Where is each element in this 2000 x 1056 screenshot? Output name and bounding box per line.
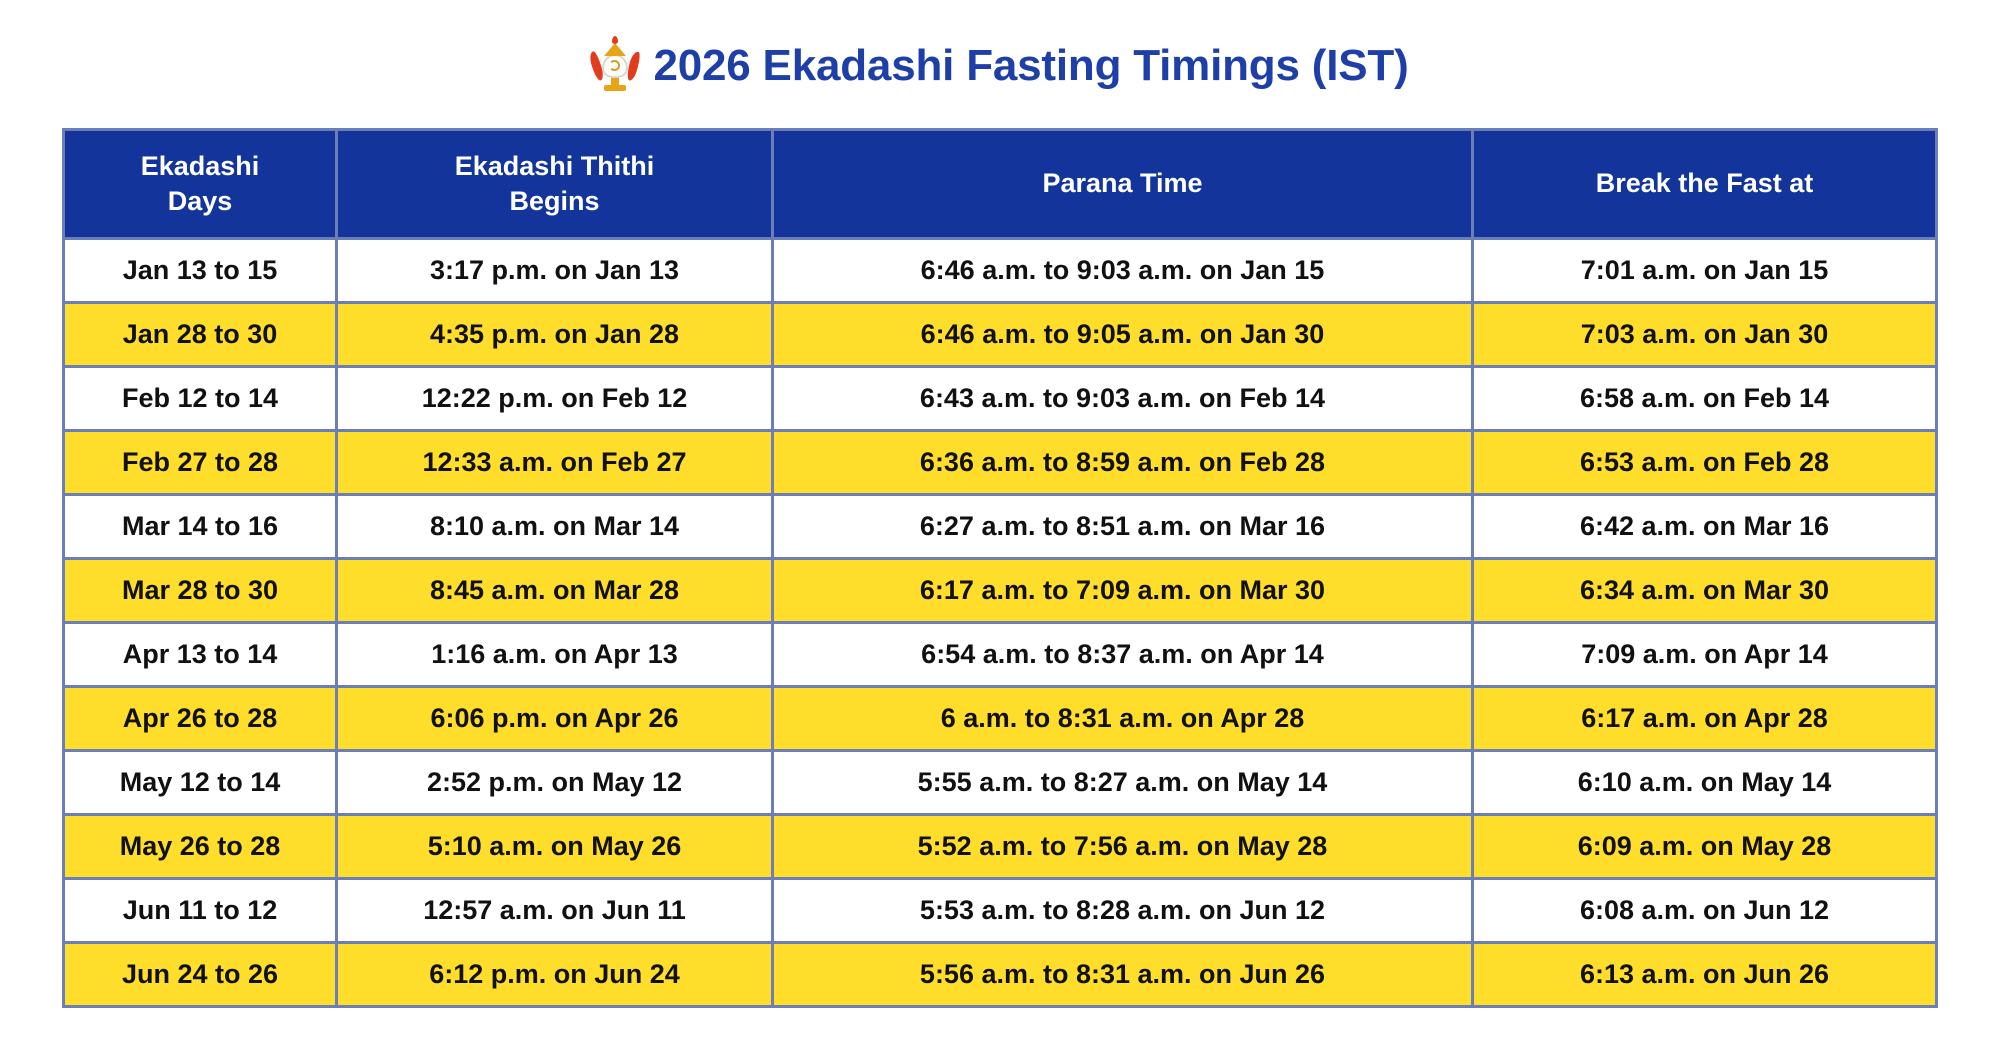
- cell-break-fast-at: 6:09 a.m. on May 28: [1474, 816, 1938, 880]
- table-row: Jun 24 to 266:12 p.m. on Jun 245:56 a.m.…: [62, 944, 1938, 1008]
- table-row: Jan 13 to 153:17 p.m. on Jan 136:46 a.m.…: [62, 240, 1938, 304]
- cell-break-fast-at: 7:03 a.m. on Jan 30: [1474, 304, 1938, 368]
- cell-thithi-begins: 6:06 p.m. on Apr 26: [338, 688, 774, 752]
- cell-break-fast-at: 7:01 a.m. on Jan 15: [1474, 240, 1938, 304]
- cell-thithi-begins: 1:16 a.m. on Apr 13: [338, 624, 774, 688]
- table-row: May 12 to 142:52 p.m. on May 125:55 a.m.…: [62, 752, 1938, 816]
- cell-parana-time: 6:17 a.m. to 7:09 a.m. on Mar 30: [774, 560, 1474, 624]
- column-header-ekadashi-days: Ekadashi Days: [62, 128, 338, 240]
- cell-thithi-begins: 2:52 p.m. on May 12: [338, 752, 774, 816]
- table-row: Mar 14 to 168:10 a.m. on Mar 146:27 a.m.…: [62, 496, 1938, 560]
- column-header-break-the-fast-at: Break the Fast at: [1474, 128, 1938, 240]
- cell-thithi-begins: 12:33 a.m. on Feb 27: [338, 432, 774, 496]
- cell-break-fast-at: 6:13 a.m. on Jun 26: [1474, 944, 1938, 1008]
- kalash-ornament-icon: [591, 39, 639, 93]
- cell-break-fast-at: 6:08 a.m. on Jun 12: [1474, 880, 1938, 944]
- cell-parana-time: 5:55 a.m. to 8:27 a.m. on May 14: [774, 752, 1474, 816]
- cell-parana-time: 6:46 a.m. to 9:03 a.m. on Jan 15: [774, 240, 1474, 304]
- cell-ekadashi-days: Feb 12 to 14: [62, 368, 338, 432]
- cell-thithi-begins: 3:17 p.m. on Jan 13: [338, 240, 774, 304]
- table-header-row: Ekadashi Days Ekadashi Thithi Begins Par…: [62, 128, 1938, 240]
- table-row: Jan 28 to 304:35 p.m. on Jan 286:46 a.m.…: [62, 304, 1938, 368]
- table-row: Feb 27 to 2812:33 a.m. on Feb 276:36 a.m…: [62, 432, 1938, 496]
- cell-ekadashi-days: May 26 to 28: [62, 816, 338, 880]
- ekadashi-timings-table: Ekadashi Days Ekadashi Thithi Begins Par…: [62, 128, 1938, 1008]
- table-row: Apr 13 to 141:16 a.m. on Apr 136:54 a.m.…: [62, 624, 1938, 688]
- table-row: Feb 12 to 1412:22 p.m. on Feb 126:43 a.m…: [62, 368, 1938, 432]
- column-header-line-1: Ekadashi: [141, 151, 260, 181]
- cell-parana-time: 5:52 a.m. to 7:56 a.m. on May 28: [774, 816, 1474, 880]
- cell-parana-time: 6:43 a.m. to 9:03 a.m. on Feb 14: [774, 368, 1474, 432]
- cell-thithi-begins: 5:10 a.m. on May 26: [338, 816, 774, 880]
- cell-break-fast-at: 6:10 a.m. on May 14: [1474, 752, 1938, 816]
- cell-ekadashi-days: Jan 28 to 30: [62, 304, 338, 368]
- cell-ekadashi-days: Jan 13 to 15: [62, 240, 338, 304]
- cell-break-fast-at: 7:09 a.m. on Apr 14: [1474, 624, 1938, 688]
- column-header-parana-time: Parana Time: [774, 128, 1474, 240]
- cell-parana-time: 6:36 a.m. to 8:59 a.m. on Feb 28: [774, 432, 1474, 496]
- cell-parana-time: 6:27 a.m. to 8:51 a.m. on Mar 16: [774, 496, 1474, 560]
- cell-ekadashi-days: Jun 11 to 12: [62, 880, 338, 944]
- cell-parana-time: 5:53 a.m. to 8:28 a.m. on Jun 12: [774, 880, 1474, 944]
- cell-ekadashi-days: Mar 14 to 16: [62, 496, 338, 560]
- cell-ekadashi-days: Feb 27 to 28: [62, 432, 338, 496]
- cell-break-fast-at: 6:17 a.m. on Apr 28: [1474, 688, 1938, 752]
- cell-parana-time: 6:46 a.m. to 9:05 a.m. on Jan 30: [774, 304, 1474, 368]
- column-header-line-1: Break the Fast at: [1596, 168, 1814, 198]
- column-header-line-2: Days: [168, 186, 233, 216]
- cell-ekadashi-days: Apr 13 to 14: [62, 624, 338, 688]
- cell-thithi-begins: 4:35 p.m. on Jan 28: [338, 304, 774, 368]
- page-root: 2026 Ekadashi Fasting Timings (IST) Ekad…: [0, 0, 2000, 1056]
- cell-ekadashi-days: Apr 26 to 28: [62, 688, 338, 752]
- column-header-ekadashi-thithi-begins: Ekadashi Thithi Begins: [338, 128, 774, 240]
- cell-ekadashi-days: Jun 24 to 26: [62, 944, 338, 1008]
- cell-thithi-begins: 8:10 a.m. on Mar 14: [338, 496, 774, 560]
- cell-break-fast-at: 6:58 a.m. on Feb 14: [1474, 368, 1938, 432]
- cell-ekadashi-days: May 12 to 14: [62, 752, 338, 816]
- column-header-line-2: Begins: [509, 186, 599, 216]
- column-header-line-1: Parana Time: [1042, 168, 1202, 198]
- cell-thithi-begins: 12:57 a.m. on Jun 11: [338, 880, 774, 944]
- cell-break-fast-at: 6:34 a.m. on Mar 30: [1474, 560, 1938, 624]
- cell-break-fast-at: 6:53 a.m. on Feb 28: [1474, 432, 1938, 496]
- table-header: Ekadashi Days Ekadashi Thithi Begins Par…: [62, 128, 1938, 240]
- table-row: Jun 11 to 1212:57 a.m. on Jun 115:53 a.m…: [62, 880, 1938, 944]
- cell-parana-time: 6 a.m. to 8:31 a.m. on Apr 28: [774, 688, 1474, 752]
- cell-thithi-begins: 8:45 a.m. on Mar 28: [338, 560, 774, 624]
- table-row: May 26 to 285:10 a.m. on May 265:52 a.m.…: [62, 816, 1938, 880]
- cell-ekadashi-days: Mar 28 to 30: [62, 560, 338, 624]
- cell-thithi-begins: 6:12 p.m. on Jun 24: [338, 944, 774, 1008]
- cell-thithi-begins: 12:22 p.m. on Feb 12: [338, 368, 774, 432]
- table-row: Mar 28 to 308:45 a.m. on Mar 286:17 a.m.…: [62, 560, 1938, 624]
- page-title-text: 2026 Ekadashi Fasting Timings (IST): [653, 41, 1408, 91]
- page-title: 2026 Ekadashi Fasting Timings (IST): [0, 34, 2000, 98]
- cell-parana-time: 6:54 a.m. to 8:37 a.m. on Apr 14: [774, 624, 1474, 688]
- cell-parana-time: 5:56 a.m. to 8:31 a.m. on Jun 26: [774, 944, 1474, 1008]
- column-header-line-1: Ekadashi Thithi: [455, 151, 655, 181]
- cell-break-fast-at: 6:42 a.m. on Mar 16: [1474, 496, 1938, 560]
- table-body: Jan 13 to 153:17 p.m. on Jan 136:46 a.m.…: [62, 240, 1938, 1008]
- table-row: Apr 26 to 286:06 p.m. on Apr 266 a.m. to…: [62, 688, 1938, 752]
